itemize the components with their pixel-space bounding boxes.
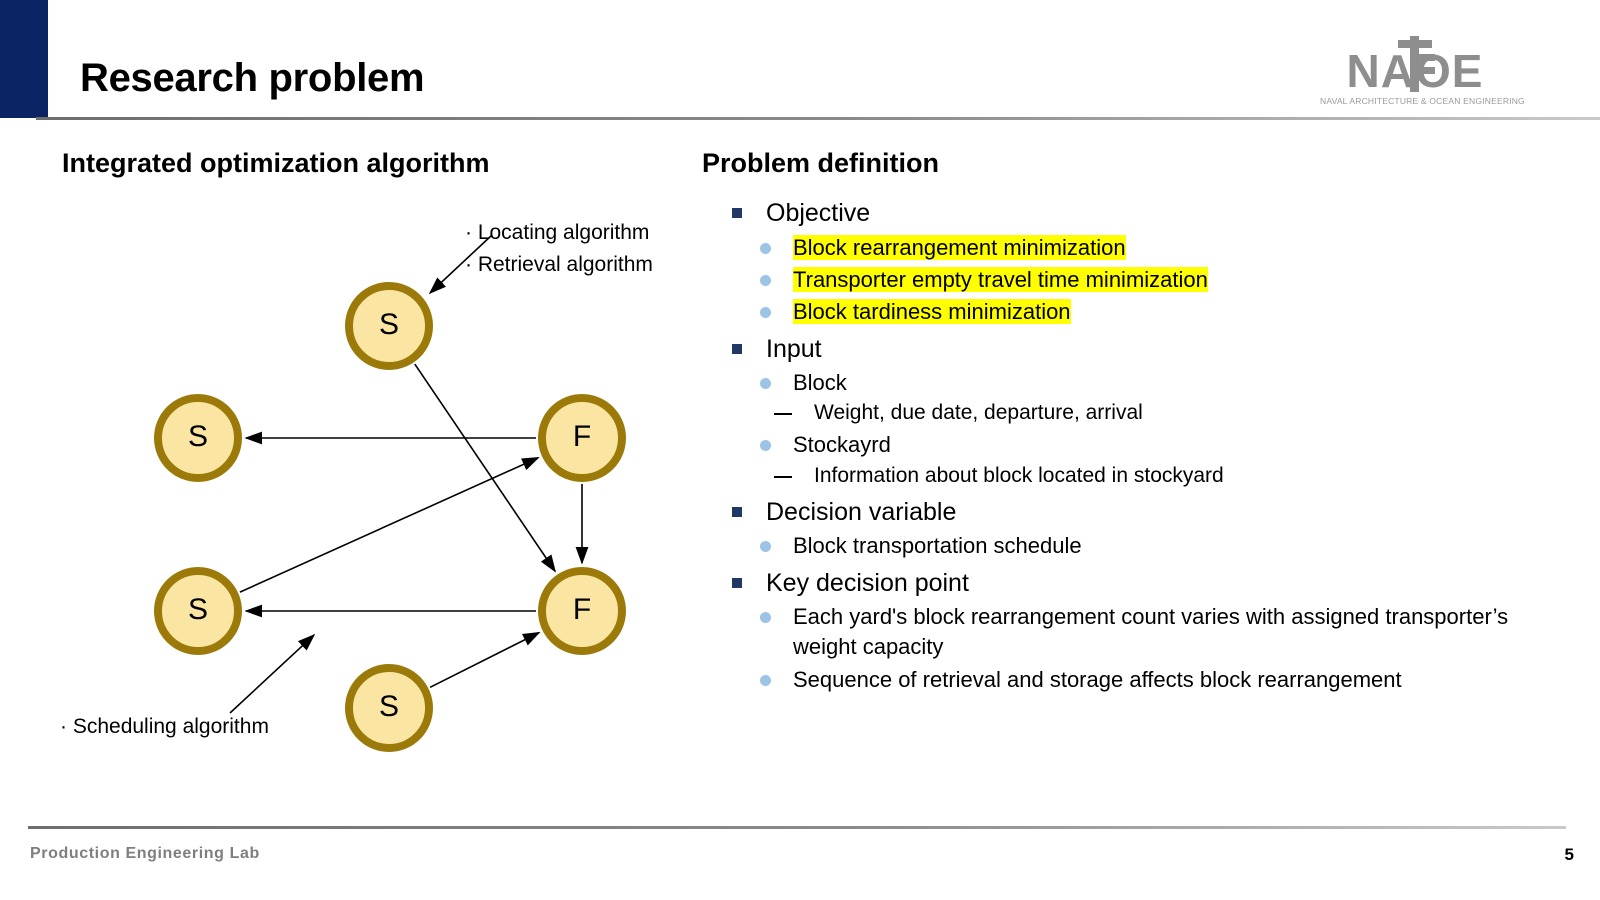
- highlighted-text: Block tardiness minimization: [793, 299, 1071, 324]
- footer-lab-label: Production Engineering Lab: [30, 845, 260, 863]
- bullet-row-level-2: Block: [760, 368, 1562, 398]
- page-number: 5: [1565, 845, 1574, 865]
- diagram-edge-s-top-to-f-right-2: [415, 364, 555, 571]
- diagram-svg: [40, 195, 720, 775]
- bullet-text: Each yard's block rearrangement count va…: [793, 602, 1562, 663]
- slide-header: Research problem NAOE NAVAL ARCHITECTURE…: [0, 0, 1600, 122]
- bullet-text: Sequence of retrieval and storage affect…: [793, 665, 1402, 695]
- bullet-row-level-2: Stockayrd: [760, 430, 1562, 460]
- bullet-row-level-1: Input: [732, 332, 1562, 367]
- naoe-logo: NAOE NAVAL ARCHITECTURE & OCEAN ENGINEER…: [1326, 36, 1504, 110]
- crane-arm-top-icon: [1398, 40, 1432, 48]
- bullet-text: Stockayrd: [793, 430, 891, 460]
- dot-bullet-icon: [760, 541, 771, 552]
- bullet-text: Input: [766, 332, 822, 367]
- annotation-bottom-leader-line: [230, 635, 314, 713]
- left-section-heading: Integrated optimization algorithm: [62, 150, 490, 177]
- bullet-row-level-3: Information about block located in stock…: [774, 462, 1562, 491]
- diagram-node-f-right-2: [542, 571, 622, 651]
- crane-arm-low-icon: [1418, 67, 1435, 74]
- bullet-row-level-2: Each yard's block rearrangement count va…: [760, 602, 1562, 663]
- integrated-optimization-diagram: SSFSFS · Locating algorithm · Retrieval …: [40, 195, 720, 775]
- dash-bullet-icon: [774, 476, 792, 478]
- square-bullet-icon: [732, 578, 742, 588]
- dot-bullet-icon: [760, 307, 771, 318]
- bullet-text: Objective: [766, 196, 870, 231]
- dot-bullet-icon: [760, 378, 771, 389]
- bullet-row-level-1: Decision variable: [732, 495, 1562, 530]
- diagram-node-s-left-2: [158, 571, 238, 651]
- dot-bullet-icon: [760, 675, 771, 686]
- bullet-text: Block rearrangement minimization: [793, 233, 1126, 263]
- bullet-text: Block transportation schedule: [793, 531, 1082, 561]
- highlighted-text: Block rearrangement minimization: [793, 235, 1126, 260]
- annotation-line-locating: · Locating algorithm: [465, 217, 653, 249]
- annotation-scheduling: · Scheduling algorithm: [60, 711, 269, 743]
- bullet-row-level-3: Weight, due date, departure, arrival: [774, 399, 1562, 428]
- bullet-row-level-2: Block tardiness minimization: [760, 297, 1562, 327]
- bullet-row-level-2: Block transportation schedule: [760, 531, 1562, 561]
- diagram-node-f-right-1: [542, 398, 622, 478]
- dot-bullet-icon: [760, 275, 771, 286]
- diagram-node-layer: [158, 286, 622, 748]
- bullet-row-level-1: Key decision point: [732, 566, 1562, 601]
- dot-bullet-icon: [760, 440, 771, 451]
- page-title: Research problem: [80, 58, 424, 98]
- bullet-text: Transporter empty travel time minimizati…: [793, 265, 1208, 295]
- bullet-text: Block tardiness minimization: [793, 297, 1071, 327]
- highlighted-text: Transporter empty travel time minimizati…: [793, 267, 1208, 292]
- square-bullet-icon: [732, 208, 742, 218]
- dot-bullet-icon: [760, 612, 771, 623]
- footer-divider: [28, 826, 1566, 829]
- annotation-line-retrieval: · Retrieval algorithm: [465, 249, 653, 281]
- annotation-locating-retrieval: · Locating algorithm · Retrieval algorit…: [465, 217, 653, 280]
- diagram-edge-layer: [240, 364, 582, 687]
- square-bullet-icon: [732, 507, 742, 517]
- logo-subtitle-text: NAVAL ARCHITECTURE & OCEAN ENGINEERING: [1320, 96, 1510, 106]
- diagram-node-s-left-1: [158, 398, 238, 478]
- dot-bullet-icon: [760, 243, 771, 254]
- diagram-edge-s-bottom-to-f-right-2: [430, 633, 539, 688]
- bullet-text: Weight, due date, departure, arrival: [814, 399, 1143, 428]
- diagram-node-s-bottom: [349, 668, 429, 748]
- bullet-row-level-1: Objective: [732, 196, 1562, 231]
- bullet-row-level-2: Transporter empty travel time minimizati…: [760, 265, 1562, 295]
- bullet-text: Decision variable: [766, 495, 956, 530]
- diagram-node-s-top: [349, 286, 429, 366]
- header-divider: [36, 117, 1600, 120]
- bullet-row-level-2: Sequence of retrieval and storage affect…: [760, 665, 1562, 695]
- header-accent-bar: [0, 0, 48, 118]
- crane-arm-mid-icon: [1418, 54, 1435, 61]
- problem-definition-list: ObjectiveBlock rearrangement minimizatio…: [702, 192, 1562, 695]
- dash-bullet-icon: [774, 413, 792, 415]
- right-section-heading: Problem definition: [702, 150, 939, 177]
- bullet-text: Key decision point: [766, 566, 969, 601]
- diagram-edge-s-left-2-to-f-right-1: [240, 458, 538, 592]
- bullet-text: Information about block located in stock…: [814, 462, 1224, 491]
- bullet-text: Block: [793, 368, 847, 398]
- square-bullet-icon: [732, 344, 742, 354]
- bullet-row-level-2: Block rearrangement minimization: [760, 233, 1562, 263]
